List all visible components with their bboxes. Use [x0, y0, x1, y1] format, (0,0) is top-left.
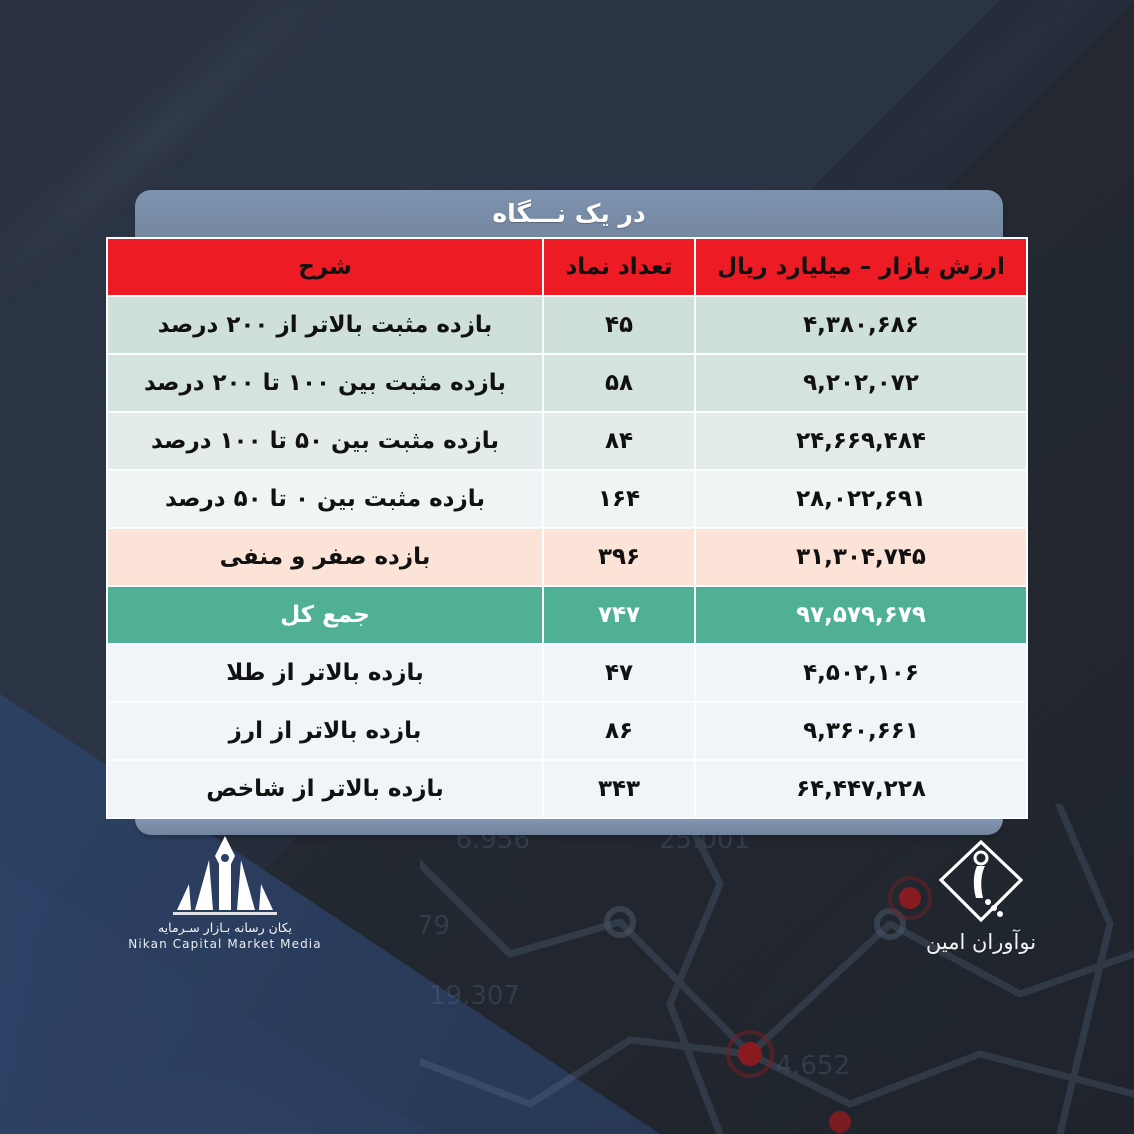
- cell-value: ۴,۵۰۲,۱۰۶: [696, 645, 1026, 701]
- table-row: ۴,۵۰۲,۱۰۶۴۷بازده بالاتر از طلا: [108, 645, 1026, 701]
- table-header-row: ارزش بازار – میلیارد ریال تعداد نماد شرح: [108, 239, 1026, 295]
- cell-count: ۸۶: [544, 703, 694, 759]
- cell-value: ۲۸,۰۲۲,۶۹۱: [696, 471, 1026, 527]
- diamond-calligraphy-icon: [933, 836, 1029, 928]
- logo-left-name-en: Nikan Capital Market Media: [110, 937, 340, 951]
- summary-card: در یک نـــگاه ارزش بازار – میلیارد ریال …: [110, 190, 1028, 835]
- cell-value: ۹۷,۵۷۹,۶۷۹: [696, 587, 1026, 643]
- cell-count: ۷۴۷: [544, 587, 694, 643]
- cell-value: ۹,۲۰۲,۰۷۲: [696, 355, 1026, 411]
- cell-desc: بازده بالاتر از ارز: [108, 703, 542, 759]
- table-row: ۴,۳۸۰,۶۸۶۴۵بازده مثبت بالاتر از ۲۰۰ درصد: [108, 297, 1026, 353]
- cell-count: ۴۵: [544, 297, 694, 353]
- summary-table: ارزش بازار – میلیارد ریال تعداد نماد شرح…: [106, 237, 1028, 819]
- logo-left-name-fa: یکان رسانه بـازار سـرمایه: [110, 920, 340, 935]
- logo-right-name-fa: نوآوران امین: [906, 930, 1056, 954]
- cell-count: ۳۴۳: [544, 761, 694, 817]
- cell-value: ۹,۳۶۰,۶۶۱: [696, 703, 1026, 759]
- table-body: ۴,۳۸۰,۶۸۶۴۵بازده مثبت بالاتر از ۲۰۰ درصد…: [108, 297, 1026, 817]
- cell-count: ۸۴: [544, 413, 694, 469]
- watermark-number: 4.652: [776, 1051, 850, 1081]
- cell-count: ۵۸: [544, 355, 694, 411]
- table-row: ۹,۳۶۰,۶۶۱۸۶بازده بالاتر از ارز: [108, 703, 1026, 759]
- cell-desc: بازده مثبت بین ۱۰۰ تا ۲۰۰ درصد: [108, 355, 542, 411]
- cell-value: ۶۴,۴۴۷,۲۲۸: [696, 761, 1026, 817]
- column-header-description: شرح: [108, 239, 542, 295]
- logo-noavaran-amin: نوآوران امین: [906, 836, 1056, 954]
- table-row: ۲۴,۶۶۹,۴۸۴۸۴بازده مثبت بین ۵۰ تا ۱۰۰ درص…: [108, 413, 1026, 469]
- cell-desc: بازده مثبت بین ۵۰ تا ۱۰۰ درصد: [108, 413, 542, 469]
- cell-value: ۴,۳۸۰,۶۸۶: [696, 297, 1026, 353]
- watermark-number: 21.379: [420, 911, 450, 941]
- card-title-bar: در یک نـــگاه: [135, 190, 1003, 237]
- cell-desc: بازده بالاتر از طلا: [108, 645, 542, 701]
- table-row: ۶۴,۴۴۷,۲۲۸۳۴۳بازده بالاتر از شاخص: [108, 761, 1026, 817]
- card-bottom-bar: [135, 819, 1003, 835]
- cell-count: ۱۶۴: [544, 471, 694, 527]
- pen-nib-sails-icon: [169, 836, 281, 916]
- table-row: ۹,۲۰۲,۰۷۲۵۸بازده مثبت بین ۱۰۰ تا ۲۰۰ درص…: [108, 355, 1026, 411]
- column-header-market-value: ارزش بازار – میلیارد ریال: [696, 239, 1026, 295]
- logo-nikan-capital-market-media: یکان رسانه بـازار سـرمایه Nikan Capital …: [110, 836, 340, 951]
- cell-desc: بازده مثبت بالاتر از ۲۰۰ درصد: [108, 297, 542, 353]
- cell-count: ۴۷: [544, 645, 694, 701]
- cell-count: ۳۹۶: [544, 529, 694, 585]
- column-header-symbol-count: تعداد نماد: [544, 239, 694, 295]
- cell-desc: بازده بالاتر از شاخص: [108, 761, 542, 817]
- table-row: ۳۱,۳۰۴,۷۴۵۳۹۶بازده صفر و منفی: [108, 529, 1026, 585]
- cell-desc: بازده صفر و منفی: [108, 529, 542, 585]
- cell-desc: بازده مثبت بین ۰ تا ۵۰ درصد: [108, 471, 542, 527]
- cell-value: ۳۱,۳۰۴,۷۴۵: [696, 529, 1026, 585]
- page-title: در یک نـــگاه: [492, 199, 645, 228]
- table-row-total: ۹۷,۵۷۹,۶۷۹۷۴۷جمع کل: [108, 587, 1026, 643]
- watermark-number: 19.307: [429, 981, 520, 1011]
- cell-desc: جمع کل: [108, 587, 542, 643]
- cell-value: ۲۴,۶۶۹,۴۸۴: [696, 413, 1026, 469]
- table-row: ۲۸,۰۲۲,۶۹۱۱۶۴بازده مثبت بین ۰ تا ۵۰ درصد: [108, 471, 1026, 527]
- table-header: ارزش بازار – میلیارد ریال تعداد نماد شرح: [108, 239, 1026, 295]
